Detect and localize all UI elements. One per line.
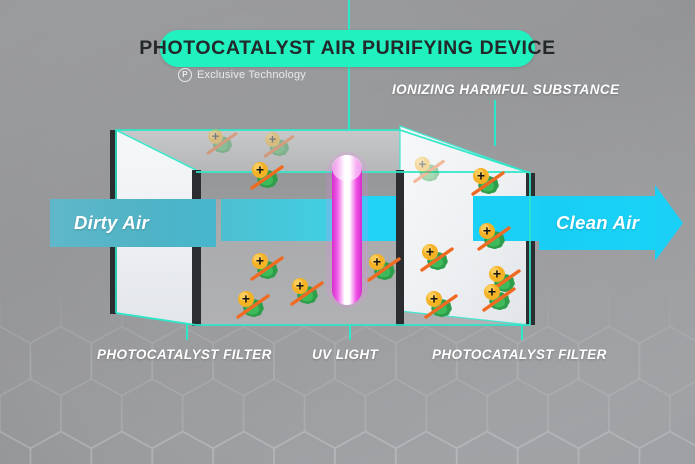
svg-text:+: +: [212, 129, 220, 144]
page-title-text: PHOTOCATALYST AIR PURIFYING DEVICE: [139, 37, 556, 60]
callout-filter-right: PHOTOCATALYST FILTER: [432, 347, 607, 362]
dirty-air-arrow: Dirty Air: [50, 199, 216, 247]
ionized-particle: +: [206, 128, 237, 156]
svg-text:+: +: [430, 291, 438, 307]
ionized-particle: +: [477, 222, 511, 252]
ionized-particle: +: [250, 161, 284, 191]
svg-text:+: +: [418, 157, 426, 172]
ionized-particle: +: [424, 290, 458, 320]
svg-text:+: +: [483, 223, 491, 239]
patent-icon: P: [178, 68, 192, 82]
ionized-particle: +: [263, 131, 294, 159]
svg-text:+: +: [488, 284, 496, 300]
svg-text:+: +: [426, 244, 434, 260]
ionized-particle: +: [250, 252, 284, 282]
callout-uv-light: UV LIGHT: [312, 347, 378, 362]
ionized-particle: +: [367, 253, 401, 283]
clean-air-arrow: Clean Air: [539, 196, 657, 250]
subtitle-text: Exclusive Technology: [197, 69, 306, 81]
svg-text:+: +: [242, 291, 250, 307]
ionized-particle: +: [413, 156, 445, 185]
ionized-particle: +: [236, 290, 270, 320]
svg-text:+: +: [256, 253, 264, 269]
svg-text:+: +: [493, 266, 501, 282]
ionized-particle: +: [290, 277, 324, 307]
callout-filter-left: PHOTOCATALYST FILTER: [97, 347, 272, 362]
infographic-canvas: ++++++++++++++ Dirty Air Clean Air PHOTO…: [0, 0, 695, 464]
svg-text:+: +: [256, 162, 264, 178]
subtitle: P Exclusive Technology: [178, 68, 306, 82]
clean-air-label: Clean Air: [556, 212, 639, 234]
ionized-particle: +: [482, 283, 516, 313]
callout-ionizing: IONIZING HARMFUL SUBSTANCE: [392, 82, 619, 97]
svg-text:+: +: [296, 278, 304, 294]
page-title: PHOTOCATALYST AIR PURIFYING DEVICE: [160, 30, 535, 67]
dirty-air-label: Dirty Air: [74, 212, 149, 234]
svg-text:+: +: [373, 254, 381, 270]
svg-text:+: +: [269, 132, 277, 147]
ionized-particle: +: [420, 243, 454, 273]
clean-air-arrowhead: [655, 185, 683, 261]
ionized-particle: +: [471, 167, 505, 197]
svg-text:+: +: [477, 168, 485, 184]
